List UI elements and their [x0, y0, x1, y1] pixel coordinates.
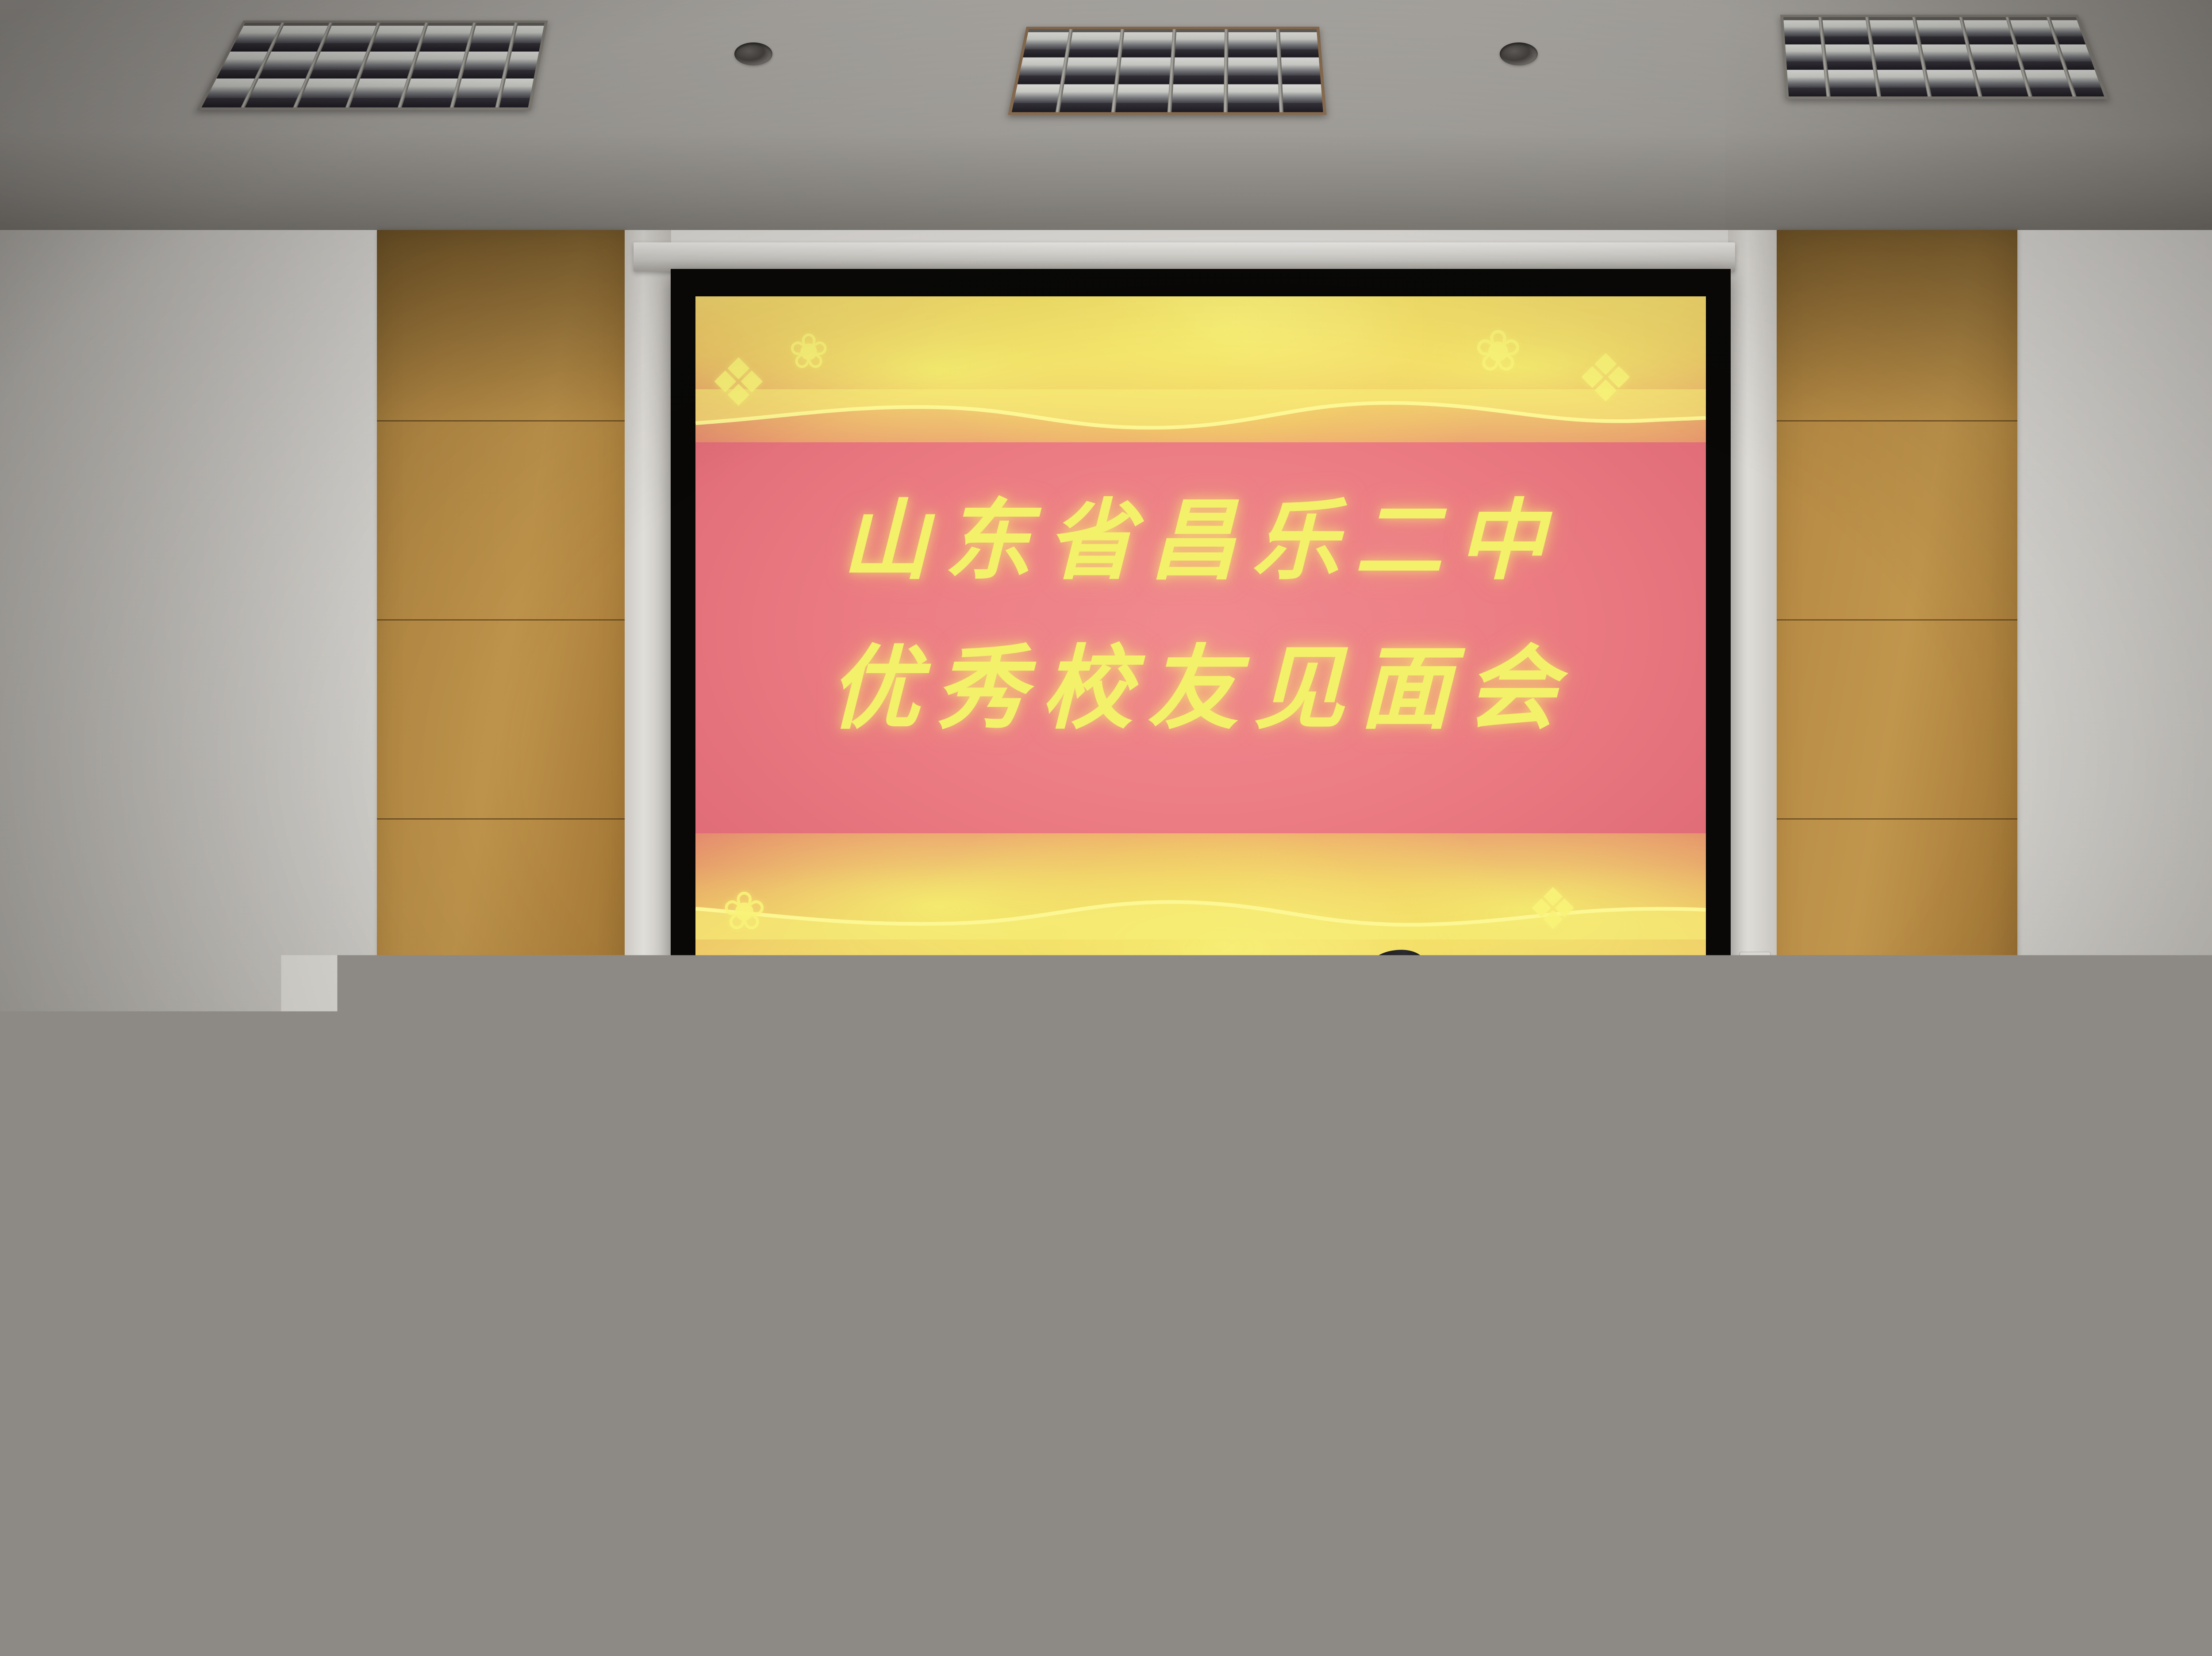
table-panel-seam	[685, 1254, 687, 1532]
wall-strip-left	[625, 230, 671, 1256]
flourish-icon: ❖	[709, 349, 768, 416]
microphone-led	[1450, 1081, 1456, 1087]
ceiling-light-icon	[197, 20, 548, 110]
projection-screen: ❖ ❀ ❀ ❖ ❀ ❖ 山东省昌乐二中 优秀校友见面会	[671, 269, 1731, 1065]
flourish-icon: ❀	[1474, 322, 1522, 379]
ceiling-light-icon	[1008, 27, 1326, 115]
projected-slide: ❖ ❀ ❀ ❖ ❀ ❖ 山东省昌乐二中 优秀校友见面会	[695, 296, 1706, 1022]
wall-shading-left	[0, 230, 398, 1256]
conference-room-photo: ❖ ❀ ❀ ❖ ❀ ❖ 山东省昌乐二中 优秀校友见面会	[0, 0, 2212, 1656]
amplifier-brand-label: rounder	[452, 1169, 677, 1184]
table-front-panel	[283, 1254, 2035, 1532]
microphone-cable	[925, 1221, 931, 1508]
slide-title-line-1: 山东省昌乐二中	[695, 470, 1706, 597]
chair-right[interactable]	[697, 1140, 750, 1215]
mouth	[1365, 1054, 1392, 1060]
microphone-cable	[1478, 1214, 1485, 1519]
slide-title-line-2: 优秀校友见面会	[695, 615, 1706, 747]
wood-pilaster-left	[377, 230, 625, 1256]
bottle-body	[0, 1416, 91, 1527]
collar	[1323, 1075, 1429, 1128]
downlight-icon	[734, 42, 772, 65]
flourish-icon: ❀	[788, 327, 829, 376]
wall-strip-right	[1728, 230, 1777, 1256]
microphone-stem	[920, 1097, 924, 1207]
screen-weight-bar	[671, 1023, 1731, 1065]
table-hinge	[583, 1187, 603, 1203]
wall-shading-right	[1969, 230, 2212, 1256]
water-bottle[interactable]	[0, 1381, 91, 1527]
ceiling-light-icon	[1780, 15, 2108, 99]
flourish-icon: ❖	[1576, 345, 1635, 411]
table-panel-seam	[1495, 1254, 1498, 1532]
flourish-icon: ❖	[1527, 880, 1579, 938]
radiator-cover-right	[2026, 1253, 2212, 1478]
clasped-hands	[1319, 1200, 1438, 1252]
wall-outlet[interactable]	[1740, 952, 1770, 981]
nose	[1372, 1034, 1384, 1049]
flourish-icon: ❀	[722, 885, 767, 938]
pilaster-shading	[377, 230, 625, 420]
projection-screen-housing	[634, 242, 1735, 272]
slide-wave-top	[695, 389, 1706, 442]
downlight-icon	[1500, 42, 1538, 65]
microphone-led	[918, 1094, 925, 1100]
